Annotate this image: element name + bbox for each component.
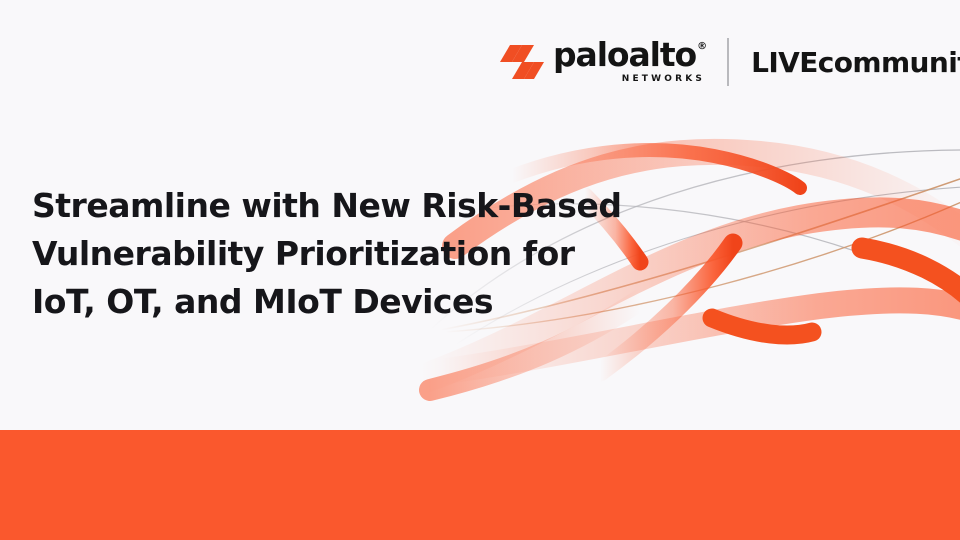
- logo-divider: [727, 38, 729, 86]
- page-title-line-3: IoT, OT, and MIoT Devices: [32, 278, 621, 326]
- bottom-accent-bar: [0, 430, 960, 540]
- page-title: Streamline with New Risk-Based Vulnerabi…: [32, 182, 621, 326]
- page-title-line-2: Vulnerability Prioritization for: [32, 230, 621, 278]
- logo-lockup: paloalto ® NETWORKS LIVEcommunity: [500, 38, 960, 86]
- paloalto-wordmark-block: paloalto ® NETWORKS: [553, 40, 707, 83]
- paloalto-networks-logo-mark: [500, 45, 544, 79]
- paloalto-wordmark: paloalto: [553, 40, 696, 70]
- registered-trademark-icon: ®: [697, 42, 707, 52]
- livecommunity-wordmark: LIVEcommunity: [751, 46, 960, 79]
- banner: paloalto ® NETWORKS LIVEcommunity Stream…: [0, 0, 960, 540]
- page-title-line-1: Streamline with New Risk-Based: [32, 182, 621, 230]
- networks-subwordmark: NETWORKS: [553, 74, 707, 84]
